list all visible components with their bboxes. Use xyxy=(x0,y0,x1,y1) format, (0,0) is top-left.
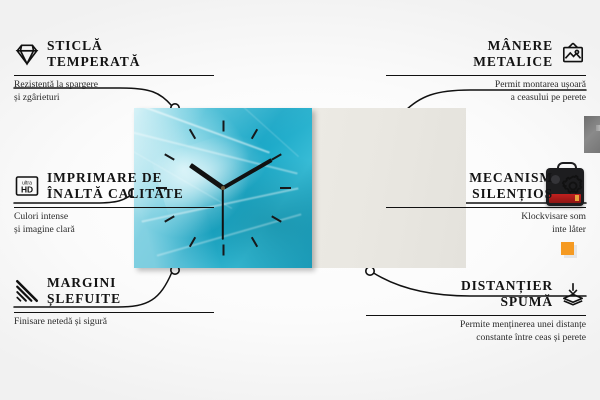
divider xyxy=(14,312,214,313)
feature-description: Klockvisare som inte låter xyxy=(386,211,586,236)
feature-tempered-glass: STICLĂ TEMPERATĂ Rezistentă la spargere … xyxy=(14,38,214,104)
feature-description: Culori intense și imagine clară xyxy=(14,211,214,236)
clock-tick xyxy=(280,187,291,189)
diamond-icon xyxy=(14,41,40,67)
feature-description: Permit montarea ușoară a ceasului pe per… xyxy=(386,79,586,104)
feature-description: Rezistentă la spargere și zgârieturi xyxy=(14,79,214,104)
orange-foam-spacer xyxy=(561,242,574,255)
feature-title: DISTANȚIER SPUMĂ xyxy=(461,278,553,311)
wire-node-spacer xyxy=(366,267,374,275)
divider xyxy=(14,75,214,76)
metal-hanger xyxy=(584,116,600,153)
divider xyxy=(386,75,586,76)
feature-polished-edges: MARGINI ȘLEFUITE Finisare netedă și sigu… xyxy=(14,275,214,329)
feature-description: Finisare netedă și sigură xyxy=(14,316,214,328)
clock-tick xyxy=(222,121,224,132)
clock-tick xyxy=(188,129,195,140)
feature-title: IMPRIMARE DE ÎNALTĂ CALITATE xyxy=(47,170,184,203)
feature-title: MÂNERE METALICE xyxy=(473,38,553,71)
feature-foam-spacer: DISTANȚIER SPUMĂ Permite menținerea unei… xyxy=(366,278,586,344)
gear-icon xyxy=(560,173,586,199)
clock-tick xyxy=(250,236,257,247)
feature-metal-handles: MÂNERE METALICE Permit montarea ușoară a… xyxy=(386,38,586,104)
feature-silent-mechanism: MECANISM SILENȚIOS Klockvisare som inte … xyxy=(386,170,586,236)
ultra-hd-icon: ultra HD xyxy=(14,173,40,199)
clock-tick xyxy=(222,245,224,256)
clock-second-hand xyxy=(222,188,224,240)
svg-text:HD: HD xyxy=(21,185,33,195)
feature-high-quality-print: ultra HD IMPRIMARE DE ÎNALTĂ CALITATE Cu… xyxy=(14,170,214,236)
divider xyxy=(366,315,586,316)
feature-title: MECANISM SILENȚIOS xyxy=(469,170,553,203)
feature-description: Permite menținerea unei distanțe constan… xyxy=(366,319,586,344)
diagonal-stripes-icon xyxy=(14,278,40,304)
divider xyxy=(14,207,214,208)
divider xyxy=(386,207,586,208)
feature-title: STICLĂ TEMPERATĂ xyxy=(47,38,140,71)
clock-center-pin xyxy=(221,186,225,190)
arrow-down-pad-icon xyxy=(560,281,586,307)
hanging-frame-icon xyxy=(560,41,586,67)
infographic-canvas: STICLĂ TEMPERATĂ Rezistentă la spargere … xyxy=(0,0,600,400)
feature-title: MARGINI ȘLEFUITE xyxy=(47,275,121,308)
